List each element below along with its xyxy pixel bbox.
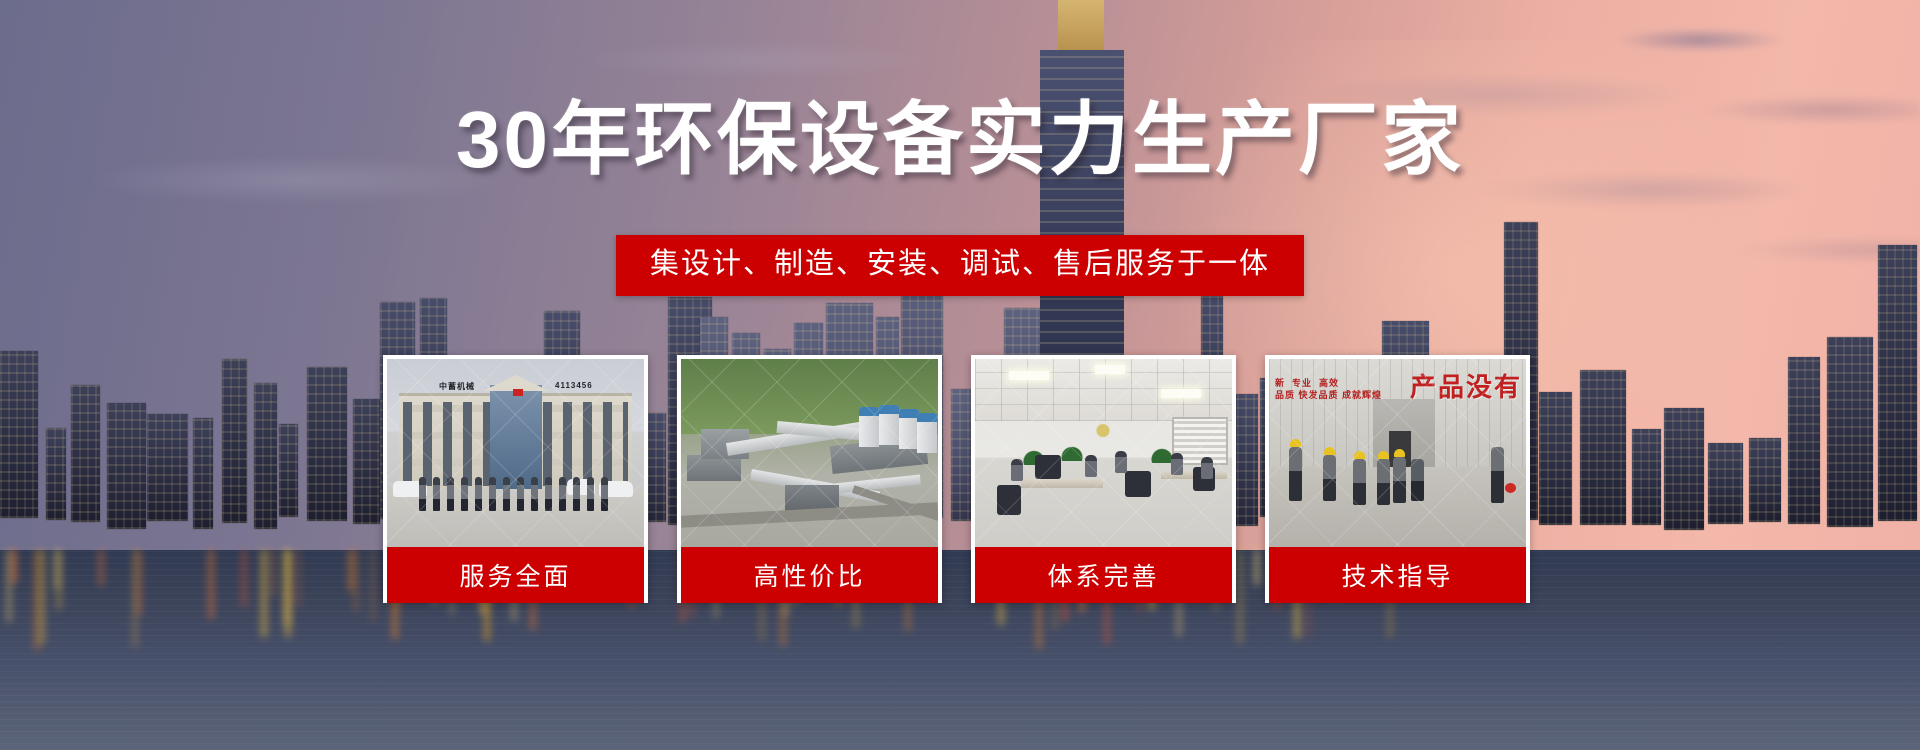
feature-card-caption: 高性价比 <box>681 547 938 603</box>
card-photo-plant-aerial <box>681 359 938 547</box>
feature-card[interactable]: 高性价比 <box>677 355 942 603</box>
feature-card[interactable]: 产品没有 新 专业 高效品质 快发品质 成就辉煌 技术指导 <box>1265 355 1530 603</box>
card-photo-workshop-team: 产品没有 新 专业 高效品质 快发品质 成就辉煌 <box>1269 359 1526 547</box>
feature-card-caption: 技术指导 <box>1269 547 1526 603</box>
workshop-wall-slogan: 新 专业 高效品质 快发品质 成就辉煌 <box>1275 377 1382 401</box>
card-photo-office-interior <box>975 359 1232 547</box>
feature-card[interactable]: 体系完善 <box>971 355 1236 603</box>
hero-banner: 30年环保设备实力生产厂家 集设计、制造、安装、调试、售后服务于一体 中蓄机械 … <box>0 0 1920 750</box>
feature-card-list: 中蓄机械 4113456 服务全面 <box>383 355 1538 603</box>
feature-card-caption: 服务全面 <box>387 547 644 603</box>
feature-card-caption: 体系完善 <box>975 547 1232 603</box>
page-title: 30年环保设备实力生产厂家 <box>0 100 1920 180</box>
building-phone-text: 4113456 <box>555 381 593 390</box>
building-sign-text: 中蓄机械 <box>439 381 475 392</box>
feature-card[interactable]: 中蓄机械 4113456 服务全面 <box>383 355 648 603</box>
card-photo-office-building: 中蓄机械 4113456 <box>387 359 644 547</box>
subtitle-badge: 集设计、制造、安装、调试、售后服务于一体 <box>616 235 1304 296</box>
